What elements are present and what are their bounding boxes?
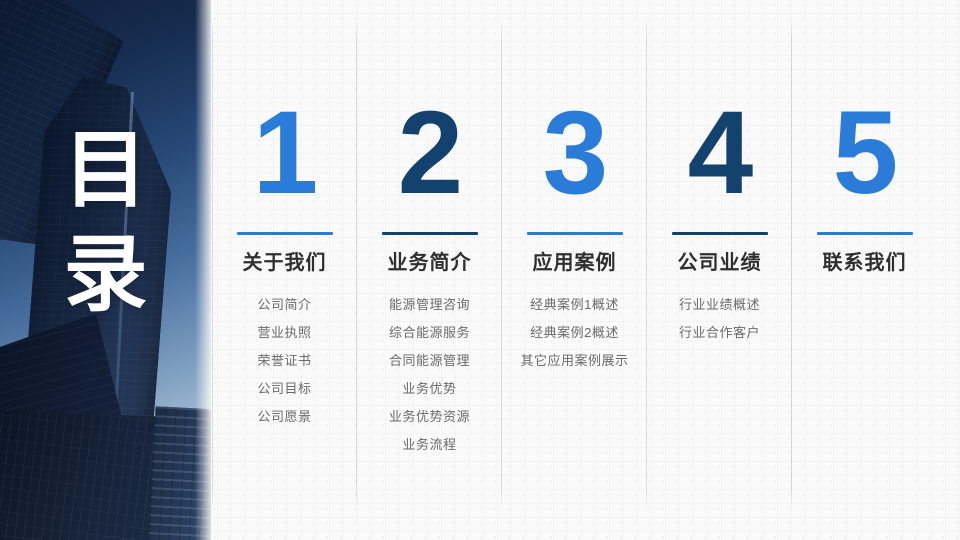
list-item[interactable]: 业务优势 (357, 375, 502, 403)
agenda-title-5[interactable]: 联系我们 (792, 249, 937, 277)
agenda-column-4[interactable]: 4 公司业绩 行业业绩概述 行业合作客户 (647, 0, 792, 540)
agenda-column-3[interactable]: 3 应用案例 经典案例1概述 经典案例2概述 其它应用案例展示 (502, 0, 647, 540)
agenda-title-3[interactable]: 应用案例 (502, 249, 647, 277)
list-item[interactable]: 公司简介 (212, 291, 357, 319)
agenda-rule-3 (527, 232, 623, 235)
agenda-items-3: 经典案例1概述 经典案例2概述 其它应用案例展示 (502, 291, 647, 375)
agenda-column-2[interactable]: 2 业务简介 能源管理咨询 综合能源服务 合同能源管理 业务优势 业务优势资源 … (357, 0, 502, 540)
agenda-items-1: 公司简介 营业执照 荣誉证书 公司目标 公司愿景 (212, 291, 357, 431)
list-item[interactable]: 公司目标 (212, 375, 357, 403)
agenda-title-2[interactable]: 业务简介 (357, 249, 502, 277)
slide-canvas: 目 录 1 关于我们 公司简介 营业执照 荣誉证书 公司目标 公司愿景 2 业务… (0, 0, 960, 540)
table-of-contents-title: 目 录 (46, 118, 166, 326)
agenda-title-1[interactable]: 关于我们 (212, 249, 357, 277)
list-item[interactable]: 业务优势资源 (357, 403, 502, 431)
list-item[interactable]: 荣誉证书 (212, 347, 357, 375)
agenda-items-4: 行业业绩概述 行业合作客户 (647, 291, 792, 347)
photo-right-fade (195, 0, 211, 540)
list-item[interactable]: 经典案例2概述 (502, 319, 647, 347)
agenda-number-1: 1 (212, 94, 357, 212)
list-item[interactable]: 营业执照 (212, 319, 357, 347)
list-item[interactable]: 综合能源服务 (357, 319, 502, 347)
agenda-number-4: 4 (647, 94, 792, 212)
agenda-items-2: 能源管理咨询 综合能源服务 合同能源管理 业务优势 业务优势资源 业务流程 (357, 291, 502, 459)
agenda-rule-2 (382, 232, 478, 235)
list-item[interactable]: 行业业绩概述 (647, 291, 792, 319)
list-item[interactable]: 公司愿景 (212, 403, 357, 431)
agenda-column-5[interactable]: 5 联系我们 (792, 0, 937, 540)
agenda-rule-5 (817, 232, 913, 235)
cover-photo-panel: 目 录 (0, 0, 211, 540)
agenda-title-4[interactable]: 公司业绩 (647, 249, 792, 277)
agenda-column-1[interactable]: 1 关于我们 公司简介 营业执照 荣誉证书 公司目标 公司愿景 (212, 0, 357, 540)
list-item[interactable]: 合同能源管理 (357, 347, 502, 375)
agenda-rule-1 (237, 232, 333, 235)
agenda-number-5: 5 (792, 94, 937, 212)
agenda-columns: 1 关于我们 公司简介 营业执照 荣誉证书 公司目标 公司愿景 2 业务简介 能… (211, 0, 960, 540)
agenda-rule-4 (672, 232, 768, 235)
list-item[interactable]: 行业合作客户 (647, 319, 792, 347)
list-item[interactable]: 业务流程 (357, 431, 502, 459)
agenda-number-3: 3 (502, 94, 647, 212)
list-item[interactable]: 能源管理咨询 (357, 291, 502, 319)
list-item[interactable]: 经典案例1概述 (502, 291, 647, 319)
list-item[interactable]: 其它应用案例展示 (502, 347, 647, 375)
agenda-number-2: 2 (357, 94, 502, 212)
